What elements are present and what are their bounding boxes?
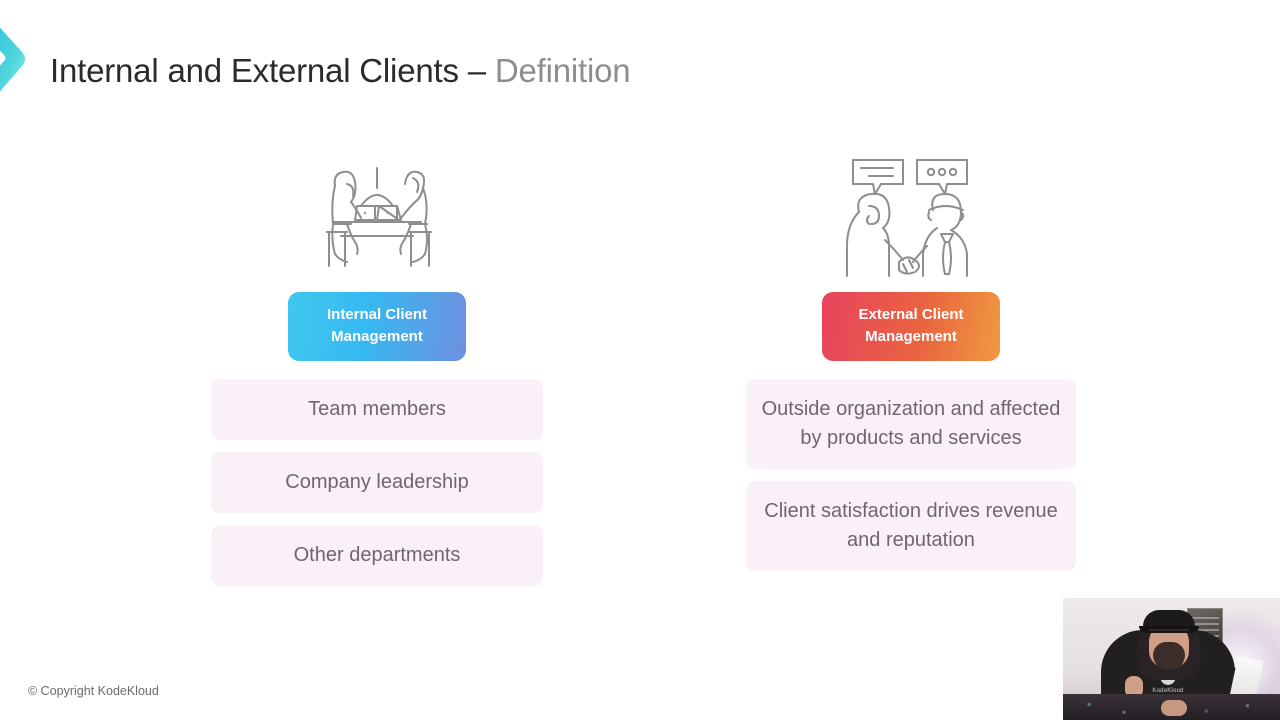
card-external-1: Outside organization and affected by pro… (746, 379, 1076, 469)
card-list-external: Outside organization and affected by pro… (746, 379, 1076, 571)
card-external-2: Client satisfaction drives revenue and r… (746, 481, 1076, 571)
badge-external-line1: External Client (832, 304, 990, 326)
presenter-webcam-overlay[interactable]: KodeKloud (1063, 598, 1280, 720)
webcam-presenter-glasses (1149, 629, 1189, 637)
card-internal-2: Company leadership (211, 452, 543, 513)
card-internal-1: Team members (211, 379, 543, 440)
copyright-footer: © Copyright KodeKloud (28, 684, 159, 698)
page-title: Internal and External Clients – Definiti… (50, 52, 630, 90)
badge-internal-line1: Internal Client (298, 304, 456, 326)
card-internal-3: Other departments (211, 525, 543, 586)
slide-canvas: Internal and External Clients – Definiti… (0, 0, 1280, 720)
webcam-presenter-hand-right (1161, 700, 1187, 716)
badge-internal-line2: Management (298, 326, 456, 348)
team-meeting-table-icon (211, 160, 543, 280)
chevron-right-decoration-icon (0, 6, 44, 114)
webcam-presenter-beard (1153, 642, 1185, 670)
badge-external-client-management: External Client Management (822, 292, 1000, 361)
column-external: External Client Management Outside organ… (746, 160, 1076, 571)
card-list-internal: Team members Company leadership Other de… (211, 379, 543, 586)
page-title-subtitle: Definition (495, 52, 631, 89)
page-title-main: Internal and External Clients – (50, 52, 495, 89)
handshake-speech-bubbles-icon (746, 160, 1076, 280)
badge-internal-client-management: Internal Client Management (288, 292, 466, 361)
badge-external-line2: Management (832, 326, 990, 348)
column-internal: Internal Client Management Team members … (211, 160, 543, 586)
